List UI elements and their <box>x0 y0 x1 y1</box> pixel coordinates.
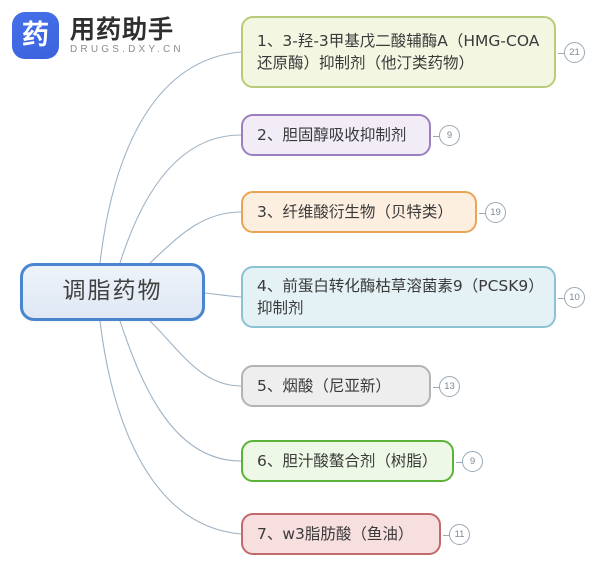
branch-badge-6[interactable]: 9 <box>462 451 483 472</box>
branch-node-5-label: 5、烟酸（尼亚新） <box>257 375 391 397</box>
branch-badge-1[interactable]: 21 <box>564 42 585 63</box>
branch-node-5[interactable]: 5、烟酸（尼亚新） <box>241 365 431 407</box>
branch-node-1[interactable]: 1、3-羟-3甲基戊二酸辅酶A（HMG-COA还原酶）抑制剂（他汀类药物） <box>241 16 556 88</box>
connector-to-branch-6 <box>120 321 241 461</box>
connector-to-branch-5 <box>150 321 241 386</box>
branch-node-4[interactable]: 4、前蛋白转化酶枯草溶菌素9（PCSK9）抑制剂 <box>241 266 556 328</box>
branch-node-1-label: 1、3-羟-3甲基戊二酸辅酶A（HMG-COA还原酶）抑制剂（他汀类药物） <box>257 30 540 75</box>
branch-badge-7[interactable]: 11 <box>449 524 470 545</box>
connector-to-branch-2 <box>120 135 241 263</box>
mindmap-canvas: 药 用药助手 DRUGS.DXY.CN 调脂药物 1、3-羟-3甲基戊二酸辅酶A… <box>0 0 605 585</box>
branch-node-7[interactable]: 7、w3脂肪酸（鱼油） <box>241 513 441 555</box>
branch-node-6-label: 6、胆汁酸螯合剂（树脂） <box>257 450 437 472</box>
connector-to-branch-1 <box>100 52 241 263</box>
branch-node-4-label: 4、前蛋白转化酶枯草溶菌素9（PCSK9）抑制剂 <box>257 275 540 320</box>
branch-node-3[interactable]: 3、纤维酸衍生物（贝特类） <box>241 191 477 233</box>
root-node-label: 调脂药物 <box>63 275 163 308</box>
root-node[interactable]: 调脂药物 <box>20 263 205 321</box>
connector-to-branch-3 <box>150 212 241 263</box>
connector-to-branch-4 <box>205 293 241 297</box>
connector-to-branch-7 <box>100 321 241 534</box>
branch-node-6[interactable]: 6、胆汁酸螯合剂（树脂） <box>241 440 454 482</box>
branch-badge-4[interactable]: 10 <box>564 287 585 308</box>
branch-node-2[interactable]: 2、胆固醇吸收抑制剂 <box>241 114 431 156</box>
branch-badge-5[interactable]: 13 <box>439 376 460 397</box>
branch-badge-2[interactable]: 9 <box>439 125 460 146</box>
branch-node-3-label: 3、纤维酸衍生物（贝特类） <box>257 201 453 223</box>
branch-node-2-label: 2、胆固醇吸收抑制剂 <box>257 124 406 146</box>
branch-badge-3[interactable]: 19 <box>485 202 506 223</box>
branch-node-7-label: 7、w3脂肪酸（鱼油） <box>257 523 413 545</box>
